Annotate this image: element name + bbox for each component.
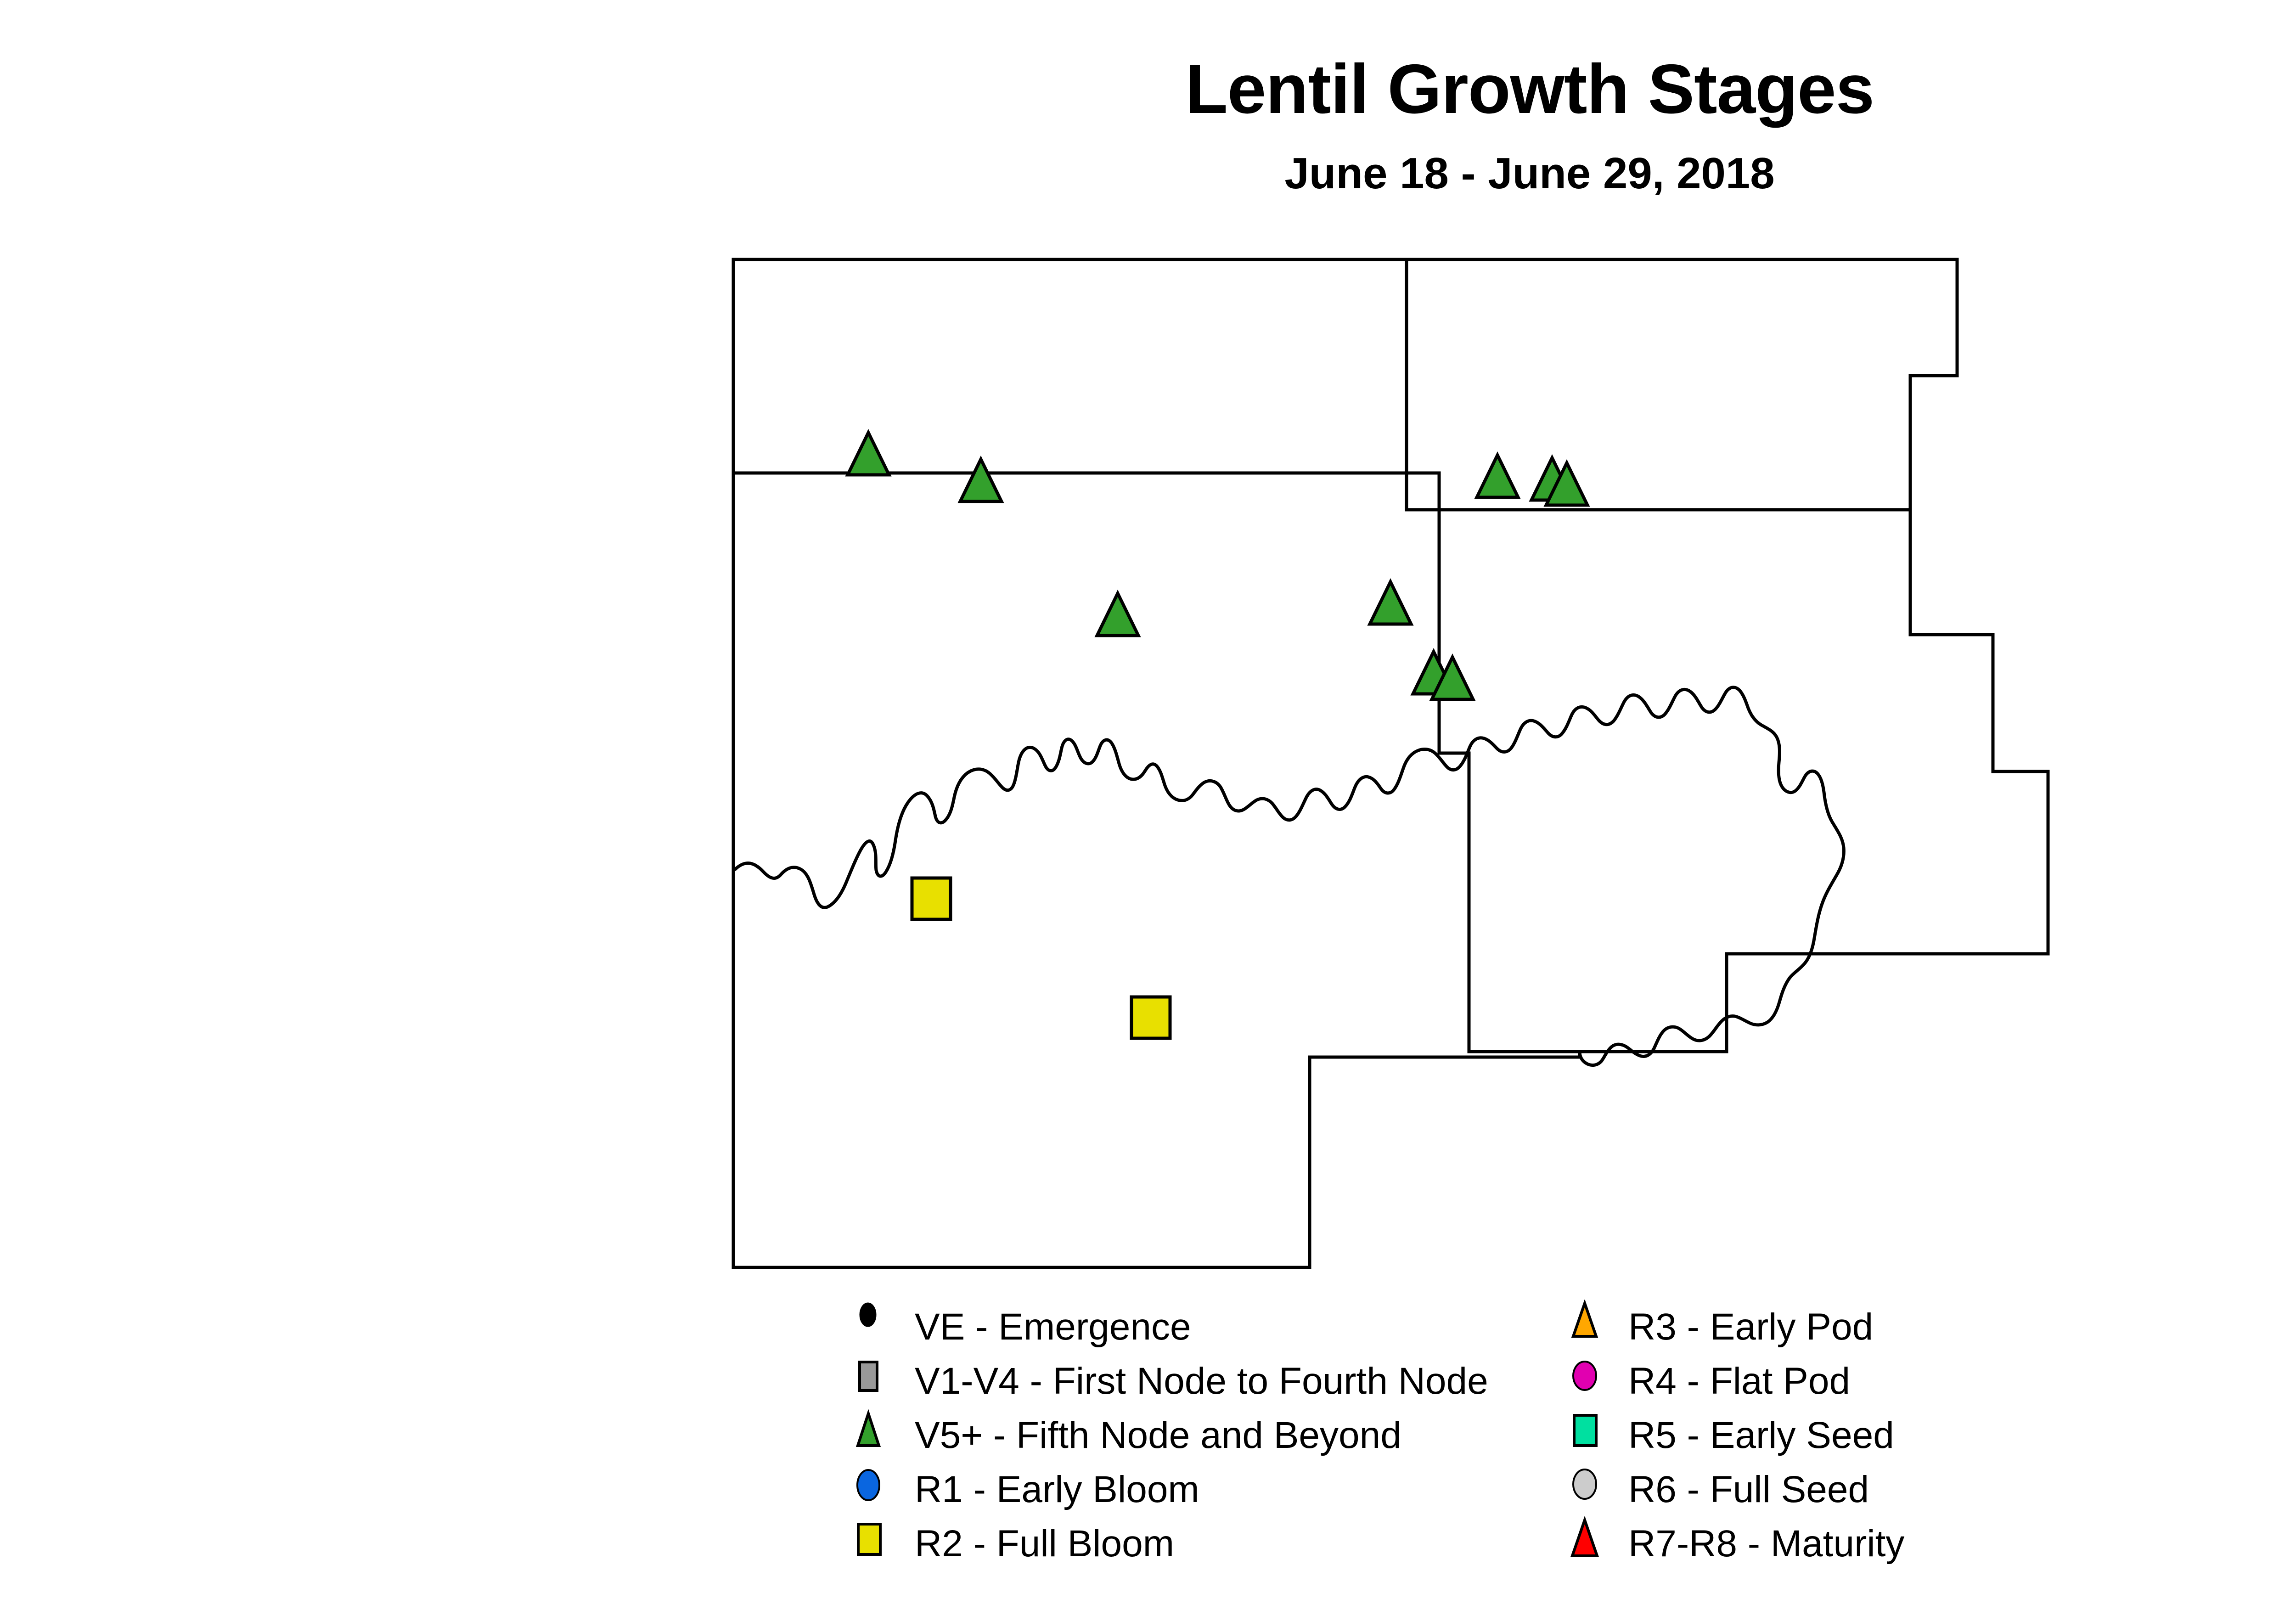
- legend-label-r2: R2 - Full Bloom: [915, 1518, 1174, 1570]
- legend-label-ve: VE - Emergence: [915, 1301, 1191, 1353]
- triangle-marker-icon: [855, 1408, 899, 1459]
- legend-label-v1v4: V1-V4 - First Node to Fourth Node: [915, 1356, 1488, 1407]
- square-marker-icon: [1570, 1408, 1615, 1459]
- square-marker-icon: [855, 1516, 899, 1568]
- square-marker-icon: [855, 1354, 899, 1405]
- legend-label-r1: R1 - Early Bloom: [915, 1464, 1199, 1515]
- map-marker-r2[interactable]: [1131, 997, 1170, 1038]
- triangle-marker-icon: [1570, 1300, 1615, 1351]
- legend-label-r7r8: R7-R8 - Maturity: [1628, 1518, 1904, 1570]
- circle-marker-icon: [1570, 1354, 1615, 1405]
- legend-label-v5plus: V5+ - Fifth Node and Beyond: [915, 1410, 1401, 1461]
- triangle-marker-icon: [1570, 1516, 1615, 1568]
- county-outline-northwest: [733, 259, 1407, 473]
- legend-label-r5: R5 - Early Seed: [1628, 1410, 1894, 1461]
- circle-marker-icon: [855, 1462, 899, 1514]
- legend: VE - Emergence V1-V4 - First Node to Fou…: [0, 1300, 2296, 1593]
- county-outline-east: [1439, 510, 2048, 1052]
- legend-label-r6: R6 - Full Seed: [1628, 1464, 1869, 1515]
- circle-marker-icon: [1570, 1462, 1615, 1514]
- map-figure: Lentil Growth Stages June 18 - June 29, …: [0, 0, 2296, 1610]
- legend-label-r4: R4 - Flat Pod: [1628, 1356, 1850, 1407]
- legend-label-r3: R3 - Early Pod: [1628, 1301, 1873, 1353]
- map-marker-r2[interactable]: [912, 878, 951, 919]
- circle-marker-icon: [855, 1300, 899, 1351]
